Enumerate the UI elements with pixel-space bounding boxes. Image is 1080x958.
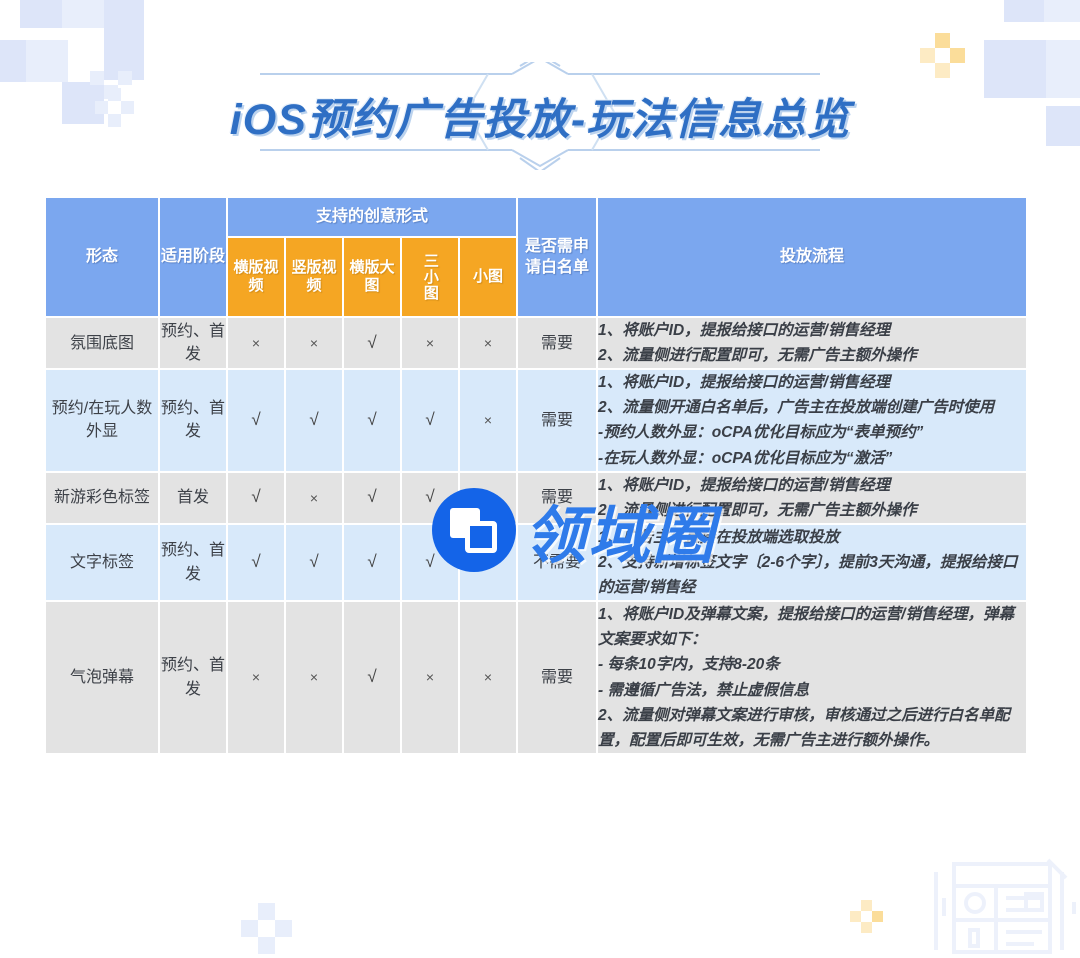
cell-flow: 1、将账户ID，提报给接口的运营/销售经理2、流量侧开通白名单后，广告主在投放端…: [598, 370, 1026, 470]
cell-stage: 预约、首发: [160, 318, 226, 368]
cell-stage: 预约、首发: [160, 525, 226, 600]
header-creative-small-image: 小图: [460, 238, 516, 316]
decor-wireframe-graphic: [930, 858, 1080, 958]
header-creative-vertical-video: 竖版视频: [286, 238, 342, 316]
header-creative-horizontal-image: 横版大图: [344, 238, 400, 316]
cell-creative-0: √: [228, 525, 284, 600]
flow-line: 2、流量侧开通白名单后，广告主在投放端创建广告时使用: [598, 395, 1026, 420]
cell-whitelist: 需要: [518, 602, 596, 753]
cell-creative-2: √: [344, 525, 400, 600]
cell-creative-4: ×: [460, 602, 516, 753]
header-creative-horizontal-video: 横版视频: [228, 238, 284, 316]
playbook-overview-table: 形态 适用阶段 支持的创意形式 是否需申请白名单 投放流程 横版视频 竖版视频: [44, 196, 1028, 755]
table-row: 新游彩色标签首发√×√√×需要1、将账户ID，提报给接口的运营/销售经理2、流量…: [46, 473, 1026, 523]
flow-line: -在玩人数外显：oCPA优化目标应为“激活”: [598, 446, 1026, 471]
cell-flow: 1、将账户ID，提报给接口的运营/销售经理2、流量侧进行配置即可，无需广告主额外…: [598, 473, 1026, 523]
cell-creative-4: ×: [460, 525, 516, 600]
cell-form: 预约/在玩人数外显: [46, 370, 158, 470]
header-stage: 适用阶段: [160, 198, 226, 316]
cell-stage: 预约、首发: [160, 370, 226, 470]
cell-whitelist: 需要: [518, 370, 596, 470]
header-creative-group: 支持的创意形式: [228, 198, 516, 236]
flow-line: 1、广告主可直接在投放端选取投放: [598, 525, 1026, 550]
cell-creative-4: ×: [460, 370, 516, 470]
table-row: 氛围底图预约、首发××√××需要1、将账户ID，提报给接口的运营/销售经理2、流…: [46, 318, 1026, 368]
cell-whitelist: 需要: [518, 318, 596, 368]
table-row: 气泡弹幕预约、首发××√××需要1、将账户ID及弹幕文案，提报给接口的运营/销售…: [46, 602, 1026, 753]
flow-line: 1、将账户ID，提报给接口的运营/销售经理: [598, 473, 1026, 498]
cell-form: 文字标签: [46, 525, 158, 600]
cell-whitelist: 不需要: [518, 525, 596, 600]
cell-creative-3: √: [402, 525, 458, 600]
cell-creative-0: ×: [228, 602, 284, 753]
cell-creative-4: ×: [460, 473, 516, 523]
flow-line: - 每条10字内，支持8-20条: [598, 652, 1026, 677]
cell-creative-2: √: [344, 318, 400, 368]
cell-creative-2: √: [344, 473, 400, 523]
flow-line: 2、流量侧对弹幕文案进行审核，审核通过之后进行白名单配置，配置后即可生效，无需广…: [598, 703, 1026, 753]
cell-creative-0: ×: [228, 318, 284, 368]
header-flow: 投放流程: [598, 198, 1026, 316]
page-title: iOS预约广告投放-玩法信息总览: [230, 85, 850, 147]
cell-creative-0: √: [228, 473, 284, 523]
table-row: 文字标签预约、首发√√√√×不需要1、广告主可直接在投放端选取投放2、支持新增标…: [46, 525, 1026, 600]
cell-creative-0: √: [228, 370, 284, 470]
cell-stage: 首发: [160, 473, 226, 523]
cell-form: 新游彩色标签: [46, 473, 158, 523]
cell-creative-2: √: [344, 602, 400, 753]
flow-line: 1、将账户ID及弹幕文案，提报给接口的运营/销售经理，弹幕文案要求如下：: [598, 602, 1026, 652]
cell-creative-1: ×: [286, 318, 342, 368]
cell-creative-1: √: [286, 525, 342, 600]
cell-creative-3: √: [402, 473, 458, 523]
flow-line: 2、流量侧进行配置即可，无需广告主额外操作: [598, 498, 1026, 523]
cell-form: 气泡弹幕: [46, 602, 158, 753]
flow-line: 1、将账户ID，提报给接口的运营/销售经理: [598, 318, 1026, 343]
cell-creative-3: ×: [402, 602, 458, 753]
cell-flow: 1、广告主可直接在投放端选取投放2、支持新增标签文字〔2-6个字〕，提前3天沟通…: [598, 525, 1026, 600]
cell-whitelist: 需要: [518, 473, 596, 523]
cell-creative-3: √: [402, 370, 458, 470]
cell-stage: 预约、首发: [160, 602, 226, 753]
table-body: 氛围底图预约、首发××√××需要1、将账户ID，提报给接口的运营/销售经理2、流…: [46, 318, 1026, 753]
cell-creative-1: ×: [286, 473, 342, 523]
header-whitelist: 是否需申请白名单: [518, 198, 596, 316]
cell-flow: 1、将账户ID，提报给接口的运营/销售经理2、流量侧进行配置即可，无需广告主额外…: [598, 318, 1026, 368]
header-form: 形态: [46, 198, 158, 316]
page-root: iOS预约广告投放-玩法信息总览 形态 适用阶段 支持的创意形式 是否需申请白名…: [0, 0, 1080, 958]
flow-line: 2、流量侧进行配置即可，无需广告主额外操作: [598, 343, 1026, 368]
cell-creative-3: ×: [402, 318, 458, 368]
header-creative-three-small-images: 三小图: [402, 238, 458, 316]
cell-creative-1: ×: [286, 602, 342, 753]
flow-line: 2、支持新增标签文字〔2-6个字〕，提前3天沟通，提报给接口的运营/销售经: [598, 550, 1026, 600]
cell-flow: 1、将账户ID及弹幕文案，提报给接口的运营/销售经理，弹幕文案要求如下：- 每条…: [598, 602, 1026, 753]
page-title-banner: iOS预约广告投放-玩法信息总览: [0, 62, 1080, 170]
cell-creative-1: √: [286, 370, 342, 470]
flow-line: -预约人数外显：oCPA优化目标应为“表单预约”: [598, 420, 1026, 445]
flow-line: - 需遵循广告法，禁止虚假信息: [598, 678, 1026, 703]
cell-creative-2: √: [344, 370, 400, 470]
table-row: 预约/在玩人数外显预约、首发√√√√×需要1、将账户ID，提报给接口的运营/销售…: [46, 370, 1026, 470]
table-header-row-1: 形态 适用阶段 支持的创意形式 是否需申请白名单 投放流程: [46, 198, 1026, 236]
cell-form: 氛围底图: [46, 318, 158, 368]
flow-line: 1、将账户ID，提报给接口的运营/销售经理: [598, 370, 1026, 395]
cell-creative-4: ×: [460, 318, 516, 368]
